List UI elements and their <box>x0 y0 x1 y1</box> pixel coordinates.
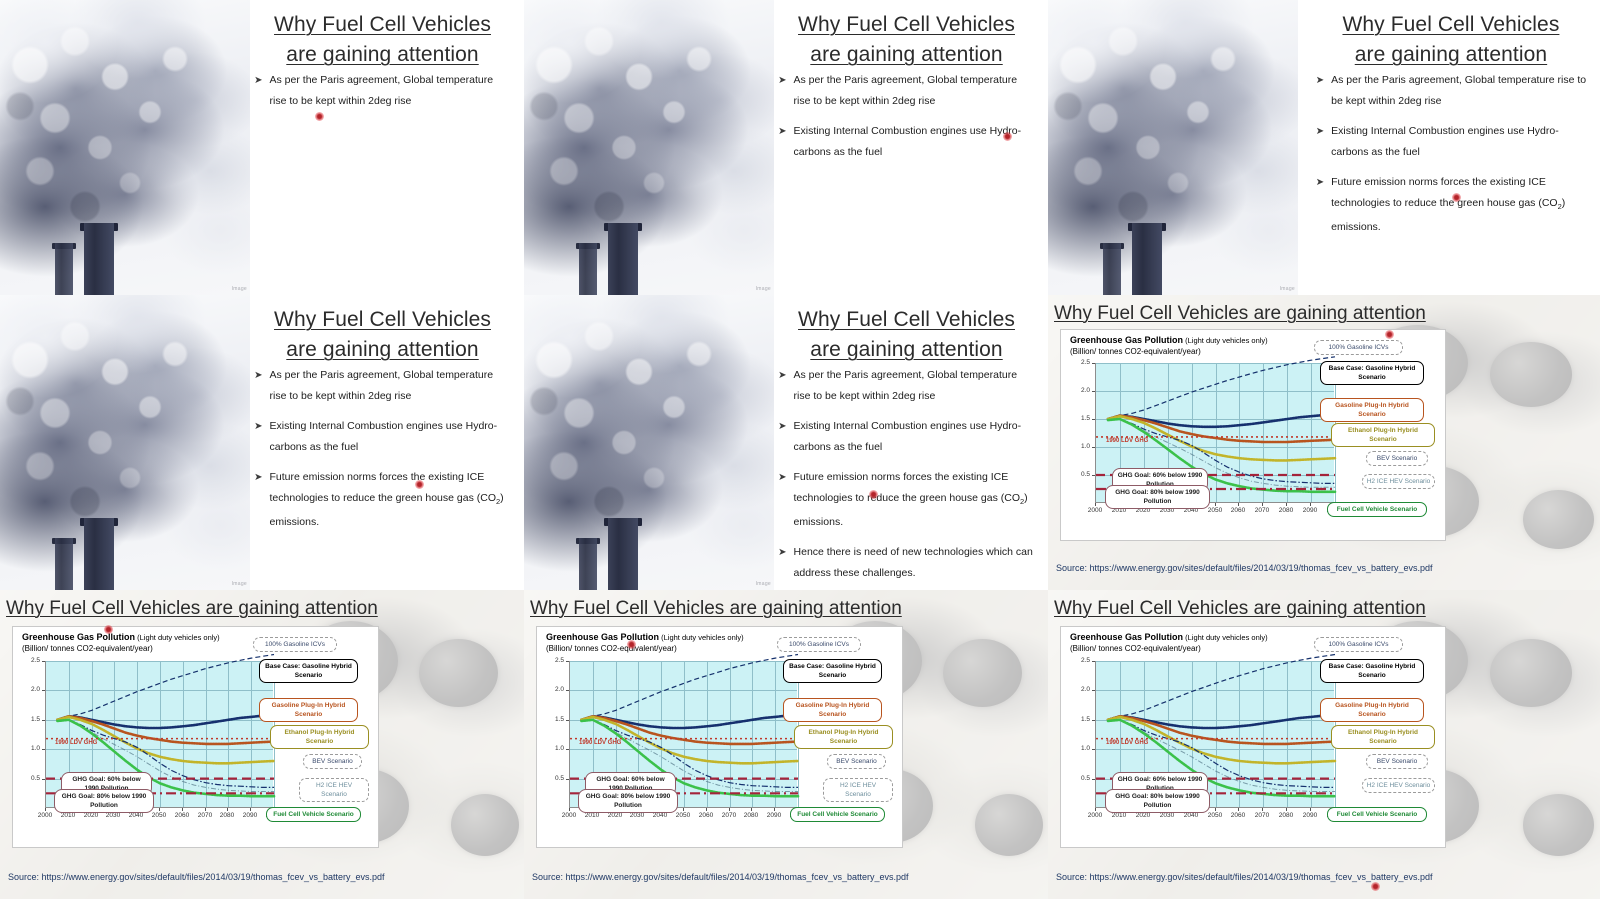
bullet-text: As per the Paris agreement, Global tempe… <box>270 70 511 112</box>
slide-source: Source: https://www.energy.gov/sites/def… <box>8 872 385 882</box>
chart-legend-base-case-gasoline-hybrid-scenario: Base Case: Gasoline Hybrid Scenario <box>783 659 882 683</box>
smokestack-secondary <box>55 243 73 295</box>
slide-title: Why Fuel Cell Vehiclesare gaining attent… <box>786 305 1027 365</box>
chart-legend-h2-ice-hev-scenario: H2 ICE HEV Scenario <box>1362 778 1435 793</box>
chart-xtick-mark <box>45 808 46 811</box>
engine-cylinder-2 <box>1490 639 1573 707</box>
chart-legend-h2-ice-hev-scenario: H2 ICE HEV Scenario <box>823 778 893 802</box>
slide-bullets: ➤As per the Paris agreement, Global temp… <box>1316 70 1586 247</box>
chart-xtick-label: 2000 <box>1084 507 1106 514</box>
chart-ytick-label: 0.5 <box>546 775 564 782</box>
chart-xtick-label: 2010 <box>57 812 79 819</box>
slide-5[interactable]: ImageWhy Fuel Cell Vehiclesare gaining a… <box>524 295 1048 590</box>
smokestack-primary <box>84 518 114 590</box>
bullet-item: ➤As per the Paris agreement, Global temp… <box>254 70 511 112</box>
chart-xtick-mark <box>683 808 684 811</box>
slide-title: Why Fuel Cell Vehiclesare gaining attent… <box>262 305 503 365</box>
chart-title: Greenhouse Gas Pollution (Light duty veh… <box>1070 632 1268 642</box>
chart-xtick-label: 2050 <box>1204 507 1226 514</box>
slide-title: Why Fuel Cell Vehicles are gaining atten… <box>6 597 378 621</box>
bullet-arrow-icon: ➤ <box>254 467 262 533</box>
chart-xtick-mark <box>1095 503 1096 506</box>
chart-xtick-label: 2090 <box>1299 812 1321 819</box>
bullet-arrow-icon: ➤ <box>254 365 262 407</box>
chart-xtick-label: 2070 <box>1251 507 1273 514</box>
slide-2[interactable]: ImageWhy Fuel Cell Vehiclesare gaining a… <box>524 0 1048 295</box>
bullet-arrow-icon: ➤ <box>1316 70 1324 112</box>
chart-ytick-mark <box>42 690 45 691</box>
slide-title: Why Fuel Cell Vehiclesare gaining attent… <box>786 10 1027 70</box>
chart-ytick-label: 1.5 <box>546 716 564 723</box>
bullet-arrow-icon: ➤ <box>254 416 262 458</box>
smoke-puffs <box>1048 0 1298 295</box>
chart-xtick-label: 2080 <box>1275 507 1297 514</box>
bullet-arrow-icon: ➤ <box>1316 121 1324 163</box>
chart-ytick-mark <box>1092 447 1095 448</box>
chart-callout-ghg-goal-80: GHG Goal: 80% below 1990 Pollution <box>1105 789 1210 813</box>
engine-cylinder-2 <box>1490 342 1573 407</box>
slide-title-line-2: are gaining attention <box>786 40 1027 70</box>
chart-xtick-label: 2060 <box>1227 812 1249 819</box>
chart-ytick-mark <box>42 749 45 750</box>
chart-xtick-label: 2020 <box>80 812 102 819</box>
slide-3[interactable]: ImageWhy Fuel Cell Vehiclesare gaining a… <box>1048 0 1600 295</box>
smokestack-pollution-photo: Image <box>0 295 250 590</box>
chart-legend-100-gasoline-icvs: 100% Gasoline ICVs <box>253 637 337 652</box>
chart-ytick-label: 1.0 <box>22 745 40 752</box>
chart-ytick-mark <box>566 749 569 750</box>
chart-title: Greenhouse Gas Pollution (Light duty veh… <box>1070 335 1268 345</box>
chart-xtick-mark <box>774 808 775 811</box>
chart-callout-ghg-goal-80: GHG Goal: 80% below 1990 Pollution <box>578 789 678 813</box>
chart-subtitle: (Billion/ tonnes CO2-equivalent/year) <box>1070 644 1201 653</box>
chart-xtick-label: 2010 <box>1108 812 1130 819</box>
smokestack-pollution-photo: Image <box>1048 0 1298 295</box>
chart-legend-h2-ice-hev-scenario: H2 ICE HEV Scenario <box>1362 474 1435 489</box>
chart-xtick-label: 2000 <box>34 812 56 819</box>
chart-xtick-mark <box>205 808 206 811</box>
chart-legend-ethanol-plug-in-hybrid-scenario: Ethanol Plug-In Hybrid Scenario <box>1331 423 1435 447</box>
smokestack-primary <box>608 223 638 295</box>
smoke-puffs <box>0 0 250 295</box>
bullet-text: Existing Internal Combustion engines use… <box>794 416 1035 458</box>
chart-legend-ethanol-plug-in-hybrid-scenario: Ethanol Plug-In Hybrid Scenario <box>1331 725 1435 749</box>
chart-title-note: (Light duty vehicles only) <box>1183 633 1268 642</box>
chart-title-note: (Light duty vehicles only) <box>659 633 744 642</box>
chart-xtick-label: 2060 <box>171 812 193 819</box>
slide-title-line-1: Why Fuel Cell Vehicles <box>262 10 503 40</box>
smokestack-pollution-photo: Image <box>524 295 774 590</box>
chart-xtick-label: 2030 <box>102 812 124 819</box>
bullet-item: ➤As per the Paris agreement, Global temp… <box>1316 70 1586 112</box>
chart-legend-100-gasoline-icvs: 100% Gasoline ICVs <box>777 637 861 652</box>
chart-xtick-label: 2090 <box>1299 507 1321 514</box>
photo-watermark: Image <box>232 581 247 587</box>
chart-xtick-mark <box>182 808 183 811</box>
chart-title-main: Greenhouse Gas Pollution <box>1070 335 1183 345</box>
chart-ytick-mark <box>566 720 569 721</box>
greenhouse-gas-chart: Greenhouse Gas Pollution (Light duty veh… <box>12 626 379 848</box>
chart-line-100-gasoline-icvs <box>1108 357 1335 419</box>
slide-title-line-1: Why Fuel Cell Vehicles <box>786 305 1027 335</box>
bullet-item: ➤Existing Internal Combustion engines us… <box>254 416 511 458</box>
chart-xtick-label: 2050 <box>1204 812 1226 819</box>
photo-watermark: Image <box>1280 286 1295 292</box>
photo-watermark: Image <box>756 581 771 587</box>
chart-legend-base-case-gasoline-hybrid-scenario: Base Case: Gasoline Hybrid Scenario <box>1320 659 1424 683</box>
bullet-arrow-icon: ➤ <box>1316 172 1324 238</box>
chart-legend-ethanol-plug-in-hybrid-scenario: Ethanol Plug-In Hybrid Scenario <box>270 725 369 749</box>
slide-bullets: ➤As per the Paris agreement, Global temp… <box>778 70 1035 172</box>
chart-xtick-mark <box>729 808 730 811</box>
chart-legend-fuel-cell-vehicle-scenario: Fuel Cell Vehicle Scenario <box>1327 502 1427 517</box>
bullet-arrow-icon: ➤ <box>778 121 786 163</box>
chart-xtick-mark <box>159 808 160 811</box>
chart-legend-fuel-cell-vehicle-scenario: Fuel Cell Vehicle Scenario <box>790 807 885 822</box>
chart-xtick-label: 2030 <box>626 812 648 819</box>
slide-title-line-1: Why Fuel Cell Vehicles <box>262 305 503 335</box>
chart-legend-fuel-cell-vehicle-scenario: Fuel Cell Vehicle Scenario <box>266 807 361 822</box>
engine-cylinder-2 <box>419 639 498 707</box>
chart-xtick-label: 2070 <box>194 812 216 819</box>
chart-line-100-gasoline-icvs <box>581 655 798 720</box>
chart-ytick-mark <box>1092 363 1095 364</box>
chart-xtick-mark <box>1310 808 1311 811</box>
chart-xtick-mark <box>250 808 251 811</box>
slide-source: Source: https://www.energy.gov/sites/def… <box>1056 872 1433 882</box>
chart-xtick-label: 2020 <box>1132 812 1154 819</box>
chart-legend-100-gasoline-icvs: 100% Gasoline ICVs <box>1314 637 1403 652</box>
smokestack-primary <box>1132 223 1162 295</box>
chart-xtick-label: 2060 <box>1227 507 1249 514</box>
bullet-item: ➤As per the Paris agreement, Global temp… <box>254 365 511 407</box>
chart-legend-bev-scenario: BEV Scenario <box>1366 451 1428 466</box>
chart-ytick-mark <box>42 720 45 721</box>
chart-ytick-mark <box>1092 391 1095 392</box>
chart-xtick-mark <box>1262 808 1263 811</box>
bullet-item: ➤Existing Internal Combustion engines us… <box>778 416 1035 458</box>
chart-ytick-label: 0.5 <box>1072 471 1090 478</box>
bullet-text: Future emission norms forces the existin… <box>1331 172 1586 238</box>
chart-title-note: (Light duty vehicles only) <box>1183 336 1268 345</box>
slide-title-line-2: are gaining attention <box>786 335 1027 365</box>
chart-ytick-label: 0.5 <box>22 775 40 782</box>
chart-xtick-mark <box>1238 503 1239 506</box>
chart-ytick-label: 2.5 <box>1072 657 1090 664</box>
smokestack-pollution-photo: Image <box>0 0 250 295</box>
chart-legend-bev-scenario: BEV Scenario <box>827 754 886 769</box>
slide-thumbnail-grid: ImageWhy Fuel Cell Vehiclesare gaining a… <box>0 0 1600 899</box>
chart-xtick-mark <box>1286 503 1287 506</box>
slide-source: Source: https://www.energy.gov/sites/def… <box>1056 563 1433 573</box>
bullet-text: As per the Paris agreement, Global tempe… <box>270 365 511 407</box>
slide-title: Why Fuel Cell Vehicles are gaining atten… <box>530 597 902 621</box>
greenhouse-gas-chart: Greenhouse Gas Pollution (Light duty veh… <box>1060 626 1446 848</box>
bullet-arrow-icon: ➤ <box>778 365 786 407</box>
chart-legend-h2-ice-hev-scenario: H2 ICE HEV Scenario <box>299 778 369 802</box>
greenhouse-gas-chart: Greenhouse Gas Pollution (Light duty veh… <box>536 626 903 848</box>
slide-8[interactable]: Why Fuel Cell Vehicles are gaining atten… <box>524 590 1048 899</box>
chart-ytick-mark <box>1092 749 1095 750</box>
chart-legend-base-case-gasoline-hybrid-scenario: Base Case: Gasoline Hybrid Scenario <box>1320 361 1424 385</box>
chart-xtick-label: 2010 <box>581 812 603 819</box>
chart-xtick-mark <box>1215 503 1216 506</box>
chart-ytick-mark <box>1092 720 1095 721</box>
chart-xtick-mark <box>1095 808 1096 811</box>
chart-line-100-gasoline-icvs <box>1108 655 1335 720</box>
bullet-text: Existing Internal Combustion engines use… <box>270 416 511 458</box>
slide-6[interactable]: Why Fuel Cell Vehicles are gaining atten… <box>1048 295 1600 590</box>
chart-xtick-label: 2050 <box>672 812 694 819</box>
bullet-arrow-icon: ➤ <box>778 467 786 533</box>
bullet-text: Existing Internal Combustion engines use… <box>794 121 1035 163</box>
slide-title-line-2: are gaining attention <box>262 40 503 70</box>
chart-xtick-label: 2060 <box>695 812 717 819</box>
greenhouse-gas-chart: Greenhouse Gas Pollution (Light duty veh… <box>1060 329 1446 541</box>
chart-legend-gasoline-plug-in-hybrid-scenario: Gasoline Plug-In Hybrid Scenario <box>783 698 882 722</box>
engine-cylinder-4 <box>1523 794 1595 856</box>
chart-ytick-label: 1.0 <box>1072 745 1090 752</box>
slide-bullets: ➤As per the Paris agreement, Global temp… <box>254 70 511 121</box>
chart-xtick-label: 2090 <box>763 812 785 819</box>
chart-ytick-mark <box>1092 419 1095 420</box>
chart-subtitle: (Billion/ tonnes CO2-equivalent/year) <box>22 644 153 653</box>
slide-title: Why Fuel Cell Vehicles are gaining atten… <box>1054 302 1426 326</box>
chart-legend-gasoline-plug-in-hybrid-scenario: Gasoline Plug-In Hybrid Scenario <box>259 698 358 722</box>
chart-subtitle: (Billion/ tonnes CO2-equivalent/year) <box>546 644 677 653</box>
chart-ytick-label: 1.5 <box>1072 716 1090 723</box>
chart-xtick-label: 2080 <box>740 812 762 819</box>
chart-xtick-mark <box>1286 808 1287 811</box>
smokestack-primary <box>608 518 638 590</box>
chart-xtick-mark <box>1262 503 1263 506</box>
chart-ytick-label: 2.5 <box>1072 359 1090 366</box>
chart-legend-gasoline-plug-in-hybrid-scenario: Gasoline Plug-In Hybrid Scenario <box>1320 398 1424 422</box>
slide-1[interactable]: ImageWhy Fuel Cell Vehiclesare gaining a… <box>0 0 524 295</box>
bullet-item: ➤ Future emission norms forces the exist… <box>778 467 1035 533</box>
slide-4[interactable]: ImageWhy Fuel Cell Vehiclesare gaining a… <box>0 295 524 590</box>
bullet-text: As per the Paris agreement, Global tempe… <box>1331 70 1586 112</box>
chart-ytick-label: 1.0 <box>546 745 564 752</box>
chart-xtick-label: 2070 <box>1251 812 1273 819</box>
slide-title: Why Fuel Cell Vehiclesare gaining attent… <box>262 10 503 70</box>
slide-9[interactable]: Why Fuel Cell Vehicles are gaining atten… <box>1048 590 1600 899</box>
slide-title-line-1: Why Fuel Cell Vehicles <box>1324 10 1578 40</box>
chart-ytick-label: 2.0 <box>1072 387 1090 394</box>
bullet-item: ➤As per the Paris agreement, Global temp… <box>778 70 1035 112</box>
chart-xtick-mark <box>751 808 752 811</box>
photo-watermark: Image <box>232 286 247 292</box>
smokestack-secondary <box>579 538 597 590</box>
chart-ytick-label: 2.0 <box>546 686 564 693</box>
slide-bullets: ➤As per the Paris agreement, Global temp… <box>778 365 1035 590</box>
chart-legend-100-gasoline-icvs: 100% Gasoline ICVs <box>1314 340 1403 355</box>
chart-xtick-label: 2040 <box>1180 812 1202 819</box>
chart-xtick-mark <box>1238 808 1239 811</box>
bullet-text: As per the Paris agreement, Global tempe… <box>794 70 1035 112</box>
slide-7[interactable]: Why Fuel Cell Vehicles are gaining atten… <box>0 590 524 899</box>
chart-ytick-label: 0.5 <box>1072 775 1090 782</box>
chart-xtick-label: 2030 <box>1156 812 1178 819</box>
chart-xtick-label: 2020 <box>604 812 626 819</box>
chart-xtick-mark <box>1310 503 1311 506</box>
chart-ytick-mark <box>1092 690 1095 691</box>
bullet-text: Future emission norms forces the existin… <box>270 467 511 533</box>
chart-xtick-label: 2080 <box>216 812 238 819</box>
bullet-item: ➤As per the Paris agreement, Global temp… <box>778 365 1035 407</box>
chart-legend-fuel-cell-vehicle-scenario: Fuel Cell Vehicle Scenario <box>1327 807 1427 822</box>
slide-source: Source: https://www.energy.gov/sites/def… <box>532 872 909 882</box>
chart-legend-ethanol-plug-in-hybrid-scenario: Ethanol Plug-In Hybrid Scenario <box>794 725 893 749</box>
chart-ytick-label: 1.5 <box>1072 415 1090 422</box>
chart-annotation-1990-ldv-ghg: 1990 LDV GHG <box>1106 438 1148 444</box>
smokestack-secondary <box>55 538 73 590</box>
slide-title-line-1: Why Fuel Cell Vehicles <box>786 10 1027 40</box>
slide-bullets: ➤As per the Paris agreement, Global temp… <box>254 365 511 542</box>
chart-ytick-mark <box>566 690 569 691</box>
chart-ytick-mark <box>566 779 569 780</box>
chart-ytick-label: 1.0 <box>1072 443 1090 450</box>
smokestack-secondary <box>1103 243 1121 295</box>
chart-ytick-mark <box>1092 779 1095 780</box>
chart-legend-base-case-gasoline-hybrid-scenario: Base Case: Gasoline Hybrid Scenario <box>259 659 358 683</box>
slide-title-line-2: are gaining attention <box>262 335 503 365</box>
smokestack-primary <box>84 223 114 295</box>
chart-line-100-gasoline-icvs <box>57 655 274 720</box>
chart-annotation-1990-ldv-ghg: 1990 LDV GHG <box>55 740 97 746</box>
chart-xtick-label: 2000 <box>1084 812 1106 819</box>
smokestack-pollution-photo: Image <box>524 0 774 295</box>
engine-cylinder-2 <box>943 639 1022 707</box>
slide-title: Why Fuel Cell Vehiclesare gaining attent… <box>1324 10 1578 70</box>
chart-ytick-label: 2.5 <box>22 657 40 664</box>
smoke-puffs <box>524 295 774 590</box>
chart-xtick-label: 2050 <box>148 812 170 819</box>
chart-subtitle: (Billion/ tonnes CO2-equivalent/year) <box>1070 347 1201 356</box>
bullet-text: Future emission norms forces the existin… <box>794 467 1035 533</box>
engine-cylinder-4 <box>975 794 1043 856</box>
chart-xtick-mark <box>1215 808 1216 811</box>
chart-xtick-mark <box>569 808 570 811</box>
bullet-item: ➤ Future emission norms forces the exist… <box>254 467 511 533</box>
chart-ytick-mark <box>566 661 569 662</box>
bullet-arrow-icon: ➤ <box>778 542 786 584</box>
chart-annotation-1990-ldv-ghg: 1990 LDV GHG <box>579 740 621 746</box>
chart-ytick-mark <box>42 661 45 662</box>
bullet-item: ➤Existing Internal Combustion engines us… <box>778 121 1035 163</box>
chart-ytick-label: 2.0 <box>1072 686 1090 693</box>
chart-callout-ghg-goal-80: GHG Goal: 80% below 1990 Pollution <box>1105 485 1210 509</box>
chart-title: Greenhouse Gas Pollution (Light duty veh… <box>22 632 220 642</box>
chart-ytick-mark <box>1092 475 1095 476</box>
chart-callout-ghg-goal-80: GHG Goal: 80% below 1990 Pollution <box>54 789 154 813</box>
chart-title-main: Greenhouse Gas Pollution <box>546 632 659 642</box>
engine-cylinder-4 <box>1523 490 1595 549</box>
chart-xtick-label: 2040 <box>125 812 147 819</box>
slide-title: Why Fuel Cell Vehicles are gaining atten… <box>1054 597 1426 621</box>
chart-ytick-label: 1.5 <box>22 716 40 723</box>
smoke-puffs <box>0 295 250 590</box>
chart-ytick-label: 2.0 <box>22 686 40 693</box>
slide-title-line-2: are gaining attention <box>1324 40 1578 70</box>
chart-xtick-label: 2040 <box>649 812 671 819</box>
chart-title-main: Greenhouse Gas Pollution <box>1070 632 1183 642</box>
chart-legend-bev-scenario: BEV Scenario <box>303 754 362 769</box>
chart-xtick-mark <box>227 808 228 811</box>
bullet-item: ➤ Future emission norms forces the exist… <box>1316 172 1586 238</box>
chart-title: Greenhouse Gas Pollution (Light duty veh… <box>546 632 744 642</box>
engine-cylinder-4 <box>451 794 519 856</box>
chart-annotation-1990-ldv-ghg: 1990 LDV GHG <box>1106 740 1148 746</box>
photo-watermark: Image <box>756 286 771 292</box>
chart-ytick-mark <box>42 779 45 780</box>
bullet-text: Existing Internal Combustion engines use… <box>1331 121 1586 163</box>
bullet-item: ➤Hence there is need of new technologies… <box>778 542 1035 584</box>
chart-xtick-label: 2000 <box>558 812 580 819</box>
bullet-arrow-icon: ➤ <box>778 416 786 458</box>
bullet-text: Hence there is need of new technologies … <box>794 542 1035 584</box>
smokestack-secondary <box>579 243 597 295</box>
chart-legend-bev-scenario: BEV Scenario <box>1366 754 1428 769</box>
bullet-arrow-icon: ➤ <box>778 70 786 112</box>
chart-ytick-mark <box>1092 661 1095 662</box>
smoke-puffs <box>524 0 774 295</box>
chart-xtick-label: 2090 <box>239 812 261 819</box>
chart-xtick-label: 2070 <box>718 812 740 819</box>
chart-xtick-label: 2080 <box>1275 812 1297 819</box>
bullet-arrow-icon: ➤ <box>254 70 262 112</box>
chart-title-note: (Light duty vehicles only) <box>135 633 220 642</box>
chart-title-main: Greenhouse Gas Pollution <box>22 632 135 642</box>
bullet-item: ➤Existing Internal Combustion engines us… <box>1316 121 1586 163</box>
bullet-text: As per the Paris agreement, Global tempe… <box>794 365 1035 407</box>
chart-xtick-mark <box>706 808 707 811</box>
chart-legend-gasoline-plug-in-hybrid-scenario: Gasoline Plug-In Hybrid Scenario <box>1320 698 1424 722</box>
chart-ytick-label: 2.5 <box>546 657 564 664</box>
